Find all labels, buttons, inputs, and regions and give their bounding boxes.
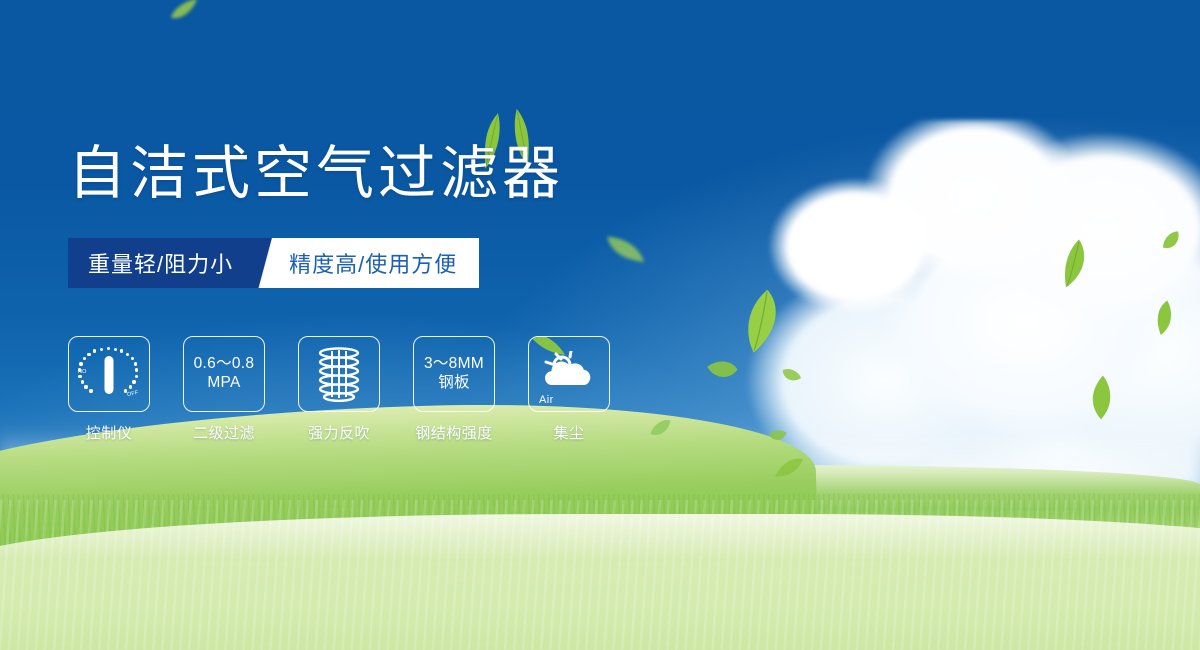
gauge-label-off: OFF	[127, 390, 140, 398]
air-cloud-icon: Air	[539, 351, 599, 397]
feature-label-dust: 集尘	[553, 422, 584, 443]
feature-box-pressure[interactable]: 0.6～0.8 MPA	[183, 336, 265, 412]
feature-item-control[interactable]: NO OFF 控制仪	[68, 336, 150, 443]
air-label: Air	[539, 394, 599, 406]
page-title: 自洁式空气过滤器	[68, 142, 564, 207]
feature-box-steel[interactable]: 3～8MM 钢板	[413, 336, 495, 412]
feature-label-pressure: 二级过滤	[193, 422, 255, 443]
feature-label-control: 控制仪	[86, 422, 133, 443]
subtitle-wedge-divider	[255, 238, 281, 288]
subtitle-right: 精度高/使用方便	[281, 238, 479, 288]
feature-label-backblow: 强力反吹	[308, 422, 370, 443]
pressure-value-line1: 0.6～0.8	[194, 355, 255, 374]
gauge-label-no: NO	[78, 369, 87, 375]
feature-box-backblow[interactable]	[298, 336, 380, 412]
steel-value-line1: 3～8MM	[424, 355, 484, 374]
grass-streaks	[0, 500, 1200, 650]
pressure-value-line2: MPA	[207, 374, 240, 393]
subtitle-banner: 重量轻/阻力小 精度高/使用方便	[68, 238, 479, 288]
subtitle-left: 重量轻/阻力小	[68, 238, 255, 288]
leaf-icon	[1083, 374, 1119, 422]
feature-item-pressure[interactable]: 0.6～0.8 MPA 二级过滤	[183, 336, 265, 443]
feature-list: NO OFF 控制仪 0.6～0.8 MPA 二级过滤	[68, 336, 610, 443]
leaf-icon	[767, 427, 789, 445]
feature-box-control[interactable]: NO OFF	[68, 336, 150, 412]
feature-item-dust[interactable]: Air 集尘	[528, 336, 610, 443]
filter-coil-icon	[312, 346, 366, 402]
feature-box-dust[interactable]: Air	[528, 336, 610, 412]
product-banner: 自洁式空气过滤器 重量轻/阻力小 精度高/使用方便	[0, 0, 1200, 650]
feature-label-steel: 钢结构强度	[415, 422, 493, 443]
gauge-icon: NO OFF	[80, 347, 138, 401]
gauge-needle-icon	[105, 356, 114, 394]
steel-value-line2: 钢板	[438, 374, 470, 393]
feature-item-backblow[interactable]: 强力反吹	[298, 336, 380, 443]
feature-item-steel[interactable]: 3～8MM 钢板 钢结构强度	[413, 336, 495, 443]
